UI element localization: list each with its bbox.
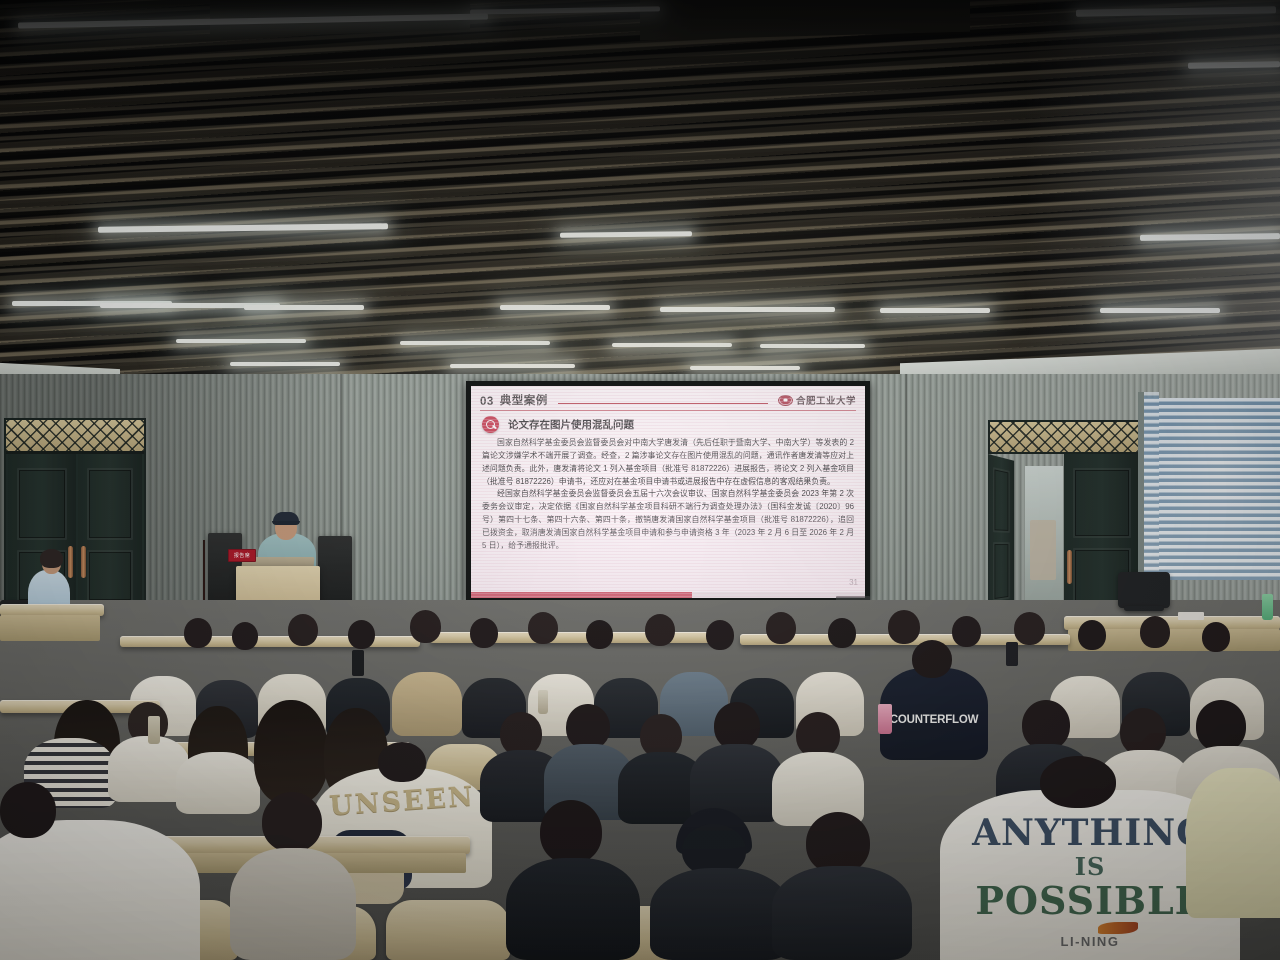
slide-surface: 03 典型案例 合肥工业大学 论文存在图片使用混乱问题 国家自然科学基金委员会监… [471,386,865,598]
lattice-grille-icon [990,422,1138,452]
ceiling-top-shadow [0,0,1280,150]
slide-header: 03 典型案例 合肥工业大学 [480,392,856,408]
door-panel [17,468,67,540]
attendee-hair [40,549,63,568]
door-transom-left [6,420,144,454]
projection-screen[interactable]: 03 典型案例 合肥工业大学 论文存在图片使用混乱问题 国家自然科学基金委员会监… [466,381,870,603]
attendee-head [714,702,760,750]
slide-accent-bar [471,592,692,598]
attendee-head [288,614,318,646]
attendee-head [470,618,498,648]
attendee-torso [1186,768,1280,918]
slide-divider [480,410,856,411]
water-bottle [148,716,160,744]
lining-logo-icon [1098,922,1138,934]
case-title: 论文存在图片使用混乱问题 [508,417,634,432]
seat-back [386,900,510,960]
attendee-head [1078,620,1106,650]
attendee-head [1040,756,1116,808]
attendee-head [1014,612,1045,645]
phone-icon [1006,642,1018,666]
attendee-head [184,618,212,648]
water-bottle [1262,594,1273,620]
ceiling [0,0,1280,382]
lecture-hall-photo: 03 典型案例 合肥工业大学 论文存在图片使用混乱问题 国家自然科学基金委员会监… [0,0,1280,960]
magnifier-icon [482,416,499,433]
presenter-cap-brim [272,521,300,525]
door-handle-icon[interactable] [81,546,86,578]
attendee-head [1022,700,1070,750]
slide-body: 国家自然科学基金委员会监督委员会对中南大学唐发清（先后任职于暨南大学、中南大学）… [482,437,854,552]
attendee-head [1140,616,1170,648]
attendee-head [1202,622,1230,652]
attendee-head [410,610,441,643]
door-panel [993,542,1010,601]
header-rule [558,403,768,404]
door-panel [1073,468,1131,538]
water-bottle [878,704,892,734]
attendee-head [586,620,613,649]
attendee-head [888,610,920,644]
attendee-head [262,792,322,852]
university-emblem-icon [778,395,793,406]
door-panel [87,550,133,602]
desk-row [120,636,420,647]
attendee-torso [176,752,260,814]
attendee-head [232,622,258,650]
podium-plaque-text: 报告席 [234,552,250,559]
attendee-head [912,640,952,678]
slide-section-title: 典型案例 [500,392,548,408]
attendee-head [1196,700,1246,752]
attendee-head [706,620,734,650]
attendee-torso [506,858,640,960]
door-panel [993,467,1010,533]
attendee-head [540,800,602,864]
podium-plaque: 报告席 [228,549,256,562]
attendee-torso-front-left [0,820,200,960]
attendee-head [645,614,675,646]
attendee-head [806,812,870,874]
desk-apron [0,615,100,641]
attendee-head [0,782,56,838]
attendee-head [766,612,796,644]
slide-paragraph-1: 国家自然科学基金委员会监督委员会对中南大学唐发清（先后任职于暨南大学、中南大学）… [482,437,854,488]
attendee-head [828,618,856,648]
attendee-torso [392,672,462,736]
attendee-torso [650,868,790,960]
slide-section-number: 03 [480,396,494,408]
door-handle-icon[interactable] [1067,550,1072,584]
attendee-torso-counterflow [880,668,988,760]
door-panel [87,468,133,540]
attendee-torso [230,848,356,960]
university-logo: 合肥工业大学 [778,393,856,407]
case-title-row: 论文存在图片使用混乱问题 [482,416,856,433]
attendee-head [1120,708,1166,756]
lattice-grille-icon [6,420,144,451]
water-bottle [538,690,548,714]
speaker-cabinet-right [318,536,352,608]
attendee-head [348,620,375,649]
door-handle-icon[interactable] [68,546,73,578]
attendee-head [952,616,981,647]
window-right [1144,398,1280,580]
attendee-head [528,612,558,644]
university-name: 合肥工业大学 [796,393,856,407]
chair-leg [1124,606,1164,611]
door-transom-right [988,420,1140,454]
slide-content: 03 典型案例 合肥工业大学 论文存在图片使用混乱问题 国家自然科学基金委员会监… [471,386,865,598]
slide-page-number: 31 [849,578,858,587]
phone-icon [352,650,364,676]
slide-paragraph-2: 经国家自然科学基金委员会监督委员会五届十六次会议审议、国家自然科学基金委员会 2… [482,488,854,552]
venetian-blinds[interactable] [1144,398,1280,580]
chair[interactable] [1118,572,1170,608]
attendee-torso [772,866,912,960]
attendee-head [378,742,426,782]
attendee-hair-long [254,700,328,804]
